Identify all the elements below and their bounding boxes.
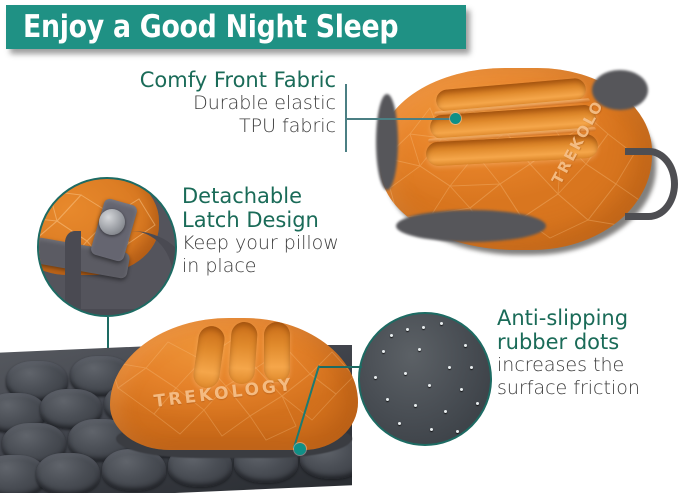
- banner-title: Enjoy a Good Night Sleep: [23, 9, 398, 45]
- main-pillow-image: TREKOLOGY: [372, 60, 672, 265]
- callout-heading-line-1: Detachable: [182, 184, 382, 208]
- latch-snap-button: [99, 209, 125, 235]
- latch-closeup-inset: [37, 177, 177, 317]
- lower-pillow-groove-2: [228, 321, 258, 385]
- callout-comfy-front-fabric: Comfy Front Fabric Durable elastic TPU f…: [88, 68, 336, 138]
- connector-dot-fabric: [450, 113, 461, 124]
- pillow-edge-shadow-left: [376, 94, 398, 190]
- pad-cell: [36, 453, 100, 493]
- callout-sub-line-2: TPU fabric: [88, 115, 336, 138]
- infographic-canvas: Enjoy a Good Night Sleep: [0, 0, 679, 493]
- callout-heading-line-2: rubber dots: [497, 330, 677, 354]
- lower-pillow-image: TREKOLOGY: [110, 318, 370, 468]
- latch-loop: [65, 231, 177, 317]
- callout-heading: Comfy Front Fabric: [88, 68, 336, 92]
- callout-sub-line-2: in place: [182, 255, 382, 278]
- callout-detachable-latch-design: Detachable Latch Design Keep your pillow…: [182, 184, 382, 278]
- callout-heading-line-2: Latch Design: [182, 208, 382, 232]
- callout-sub-line-2: surface friction: [497, 377, 677, 400]
- lower-pillow-body: TREKOLOGY: [110, 318, 358, 450]
- lower-pillow-groove-3: [264, 322, 290, 382]
- callout-heading-line-1: Anti-slipping: [497, 306, 677, 330]
- pillow-strap-loop: [625, 148, 678, 220]
- callout-sub-line-1: Keep your pillow: [182, 232, 382, 255]
- connector-horizontal-fabric: [345, 118, 457, 120]
- callout-sub-line-1: increases the: [497, 354, 677, 377]
- callout-anti-slipping-rubber-dots: Anti-slipping rubber dots increases the …: [497, 306, 677, 400]
- callout-sub-line-1: Durable elastic: [88, 92, 336, 115]
- rubber-dots-closeup-inset: [358, 312, 492, 446]
- pillow-edge-shadow-bottom: [396, 210, 546, 242]
- header-banner: Enjoy a Good Night Sleep: [6, 5, 466, 49]
- connector-dot-dots: [294, 443, 306, 455]
- connector-horizontal-dots: [318, 366, 362, 368]
- pillow-edge-shadow-top: [592, 70, 648, 110]
